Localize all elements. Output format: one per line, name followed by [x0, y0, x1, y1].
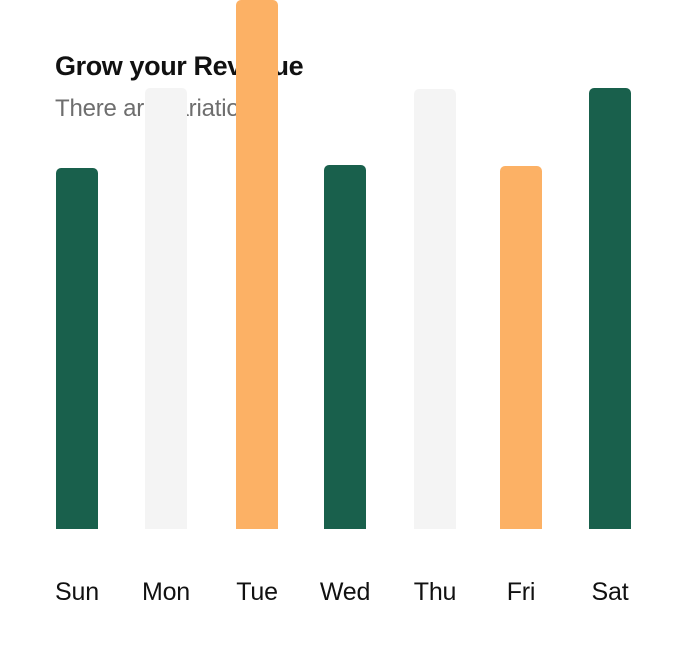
x-axis-label-row: SunMonTueWedThuFriSat	[0, 578, 696, 622]
bar-wed[interactable]	[324, 165, 366, 529]
x-axis-label-mon: Mon	[121, 578, 211, 607]
bar-mon[interactable]	[145, 88, 187, 529]
bar-thu[interactable]	[414, 89, 456, 529]
x-axis-label-tue: Tue	[212, 578, 302, 607]
x-axis-label-fri: Fri	[476, 578, 566, 607]
bar-sat[interactable]	[589, 88, 631, 529]
bar-chart-plot-area	[0, 0, 696, 529]
bar-fri[interactable]	[500, 166, 542, 529]
x-axis-label-sun: Sun	[32, 578, 122, 607]
x-axis-label-thu: Thu	[390, 578, 480, 607]
bar-tue[interactable]	[236, 0, 278, 529]
x-axis-label-wed: Wed	[300, 578, 390, 607]
x-axis-label-sat: Sat	[565, 578, 655, 607]
bar-sun[interactable]	[56, 168, 98, 530]
revenue-chart-card: Grow your Revenue There are variations S…	[0, 0, 696, 669]
